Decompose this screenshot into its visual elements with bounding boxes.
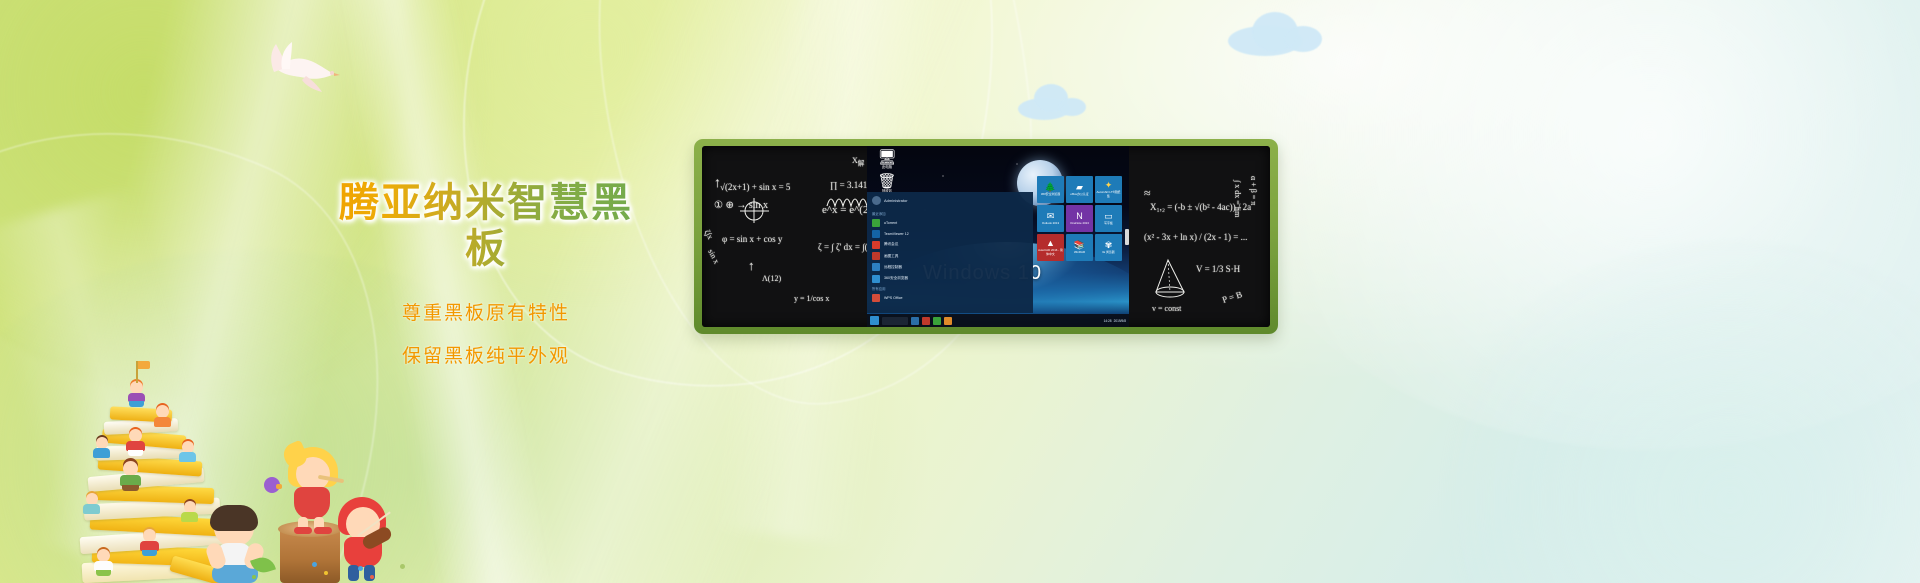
chalk-arrow-icon: ↑ — [714, 176, 721, 192]
remote-icon — [872, 263, 880, 271]
start-menu-item[interactable]: 画图工具 — [871, 251, 1029, 262]
start-tile[interactable]: 🌲360安全浏览器 — [1037, 176, 1064, 203]
tile-label: office办公认证 — [1070, 193, 1088, 196]
tile-label: 360安全浏览器 — [1041, 193, 1060, 196]
chalk-scribble: sin x — [706, 248, 721, 266]
taskbar-icon[interactable] — [922, 317, 930, 325]
taskbar-icon[interactable] — [911, 317, 919, 325]
promo-banner: 腾亚纳米智慧黑板 尊重黑板原有特性 保留黑板纯平外观 √(2x+1) + sin… — [0, 0, 1920, 583]
child-figure — [178, 441, 200, 467]
confetti-dot — [400, 564, 405, 569]
child-sitting — [206, 509, 264, 583]
system-tray[interactable]: 14:28 2019/5/8 — [1104, 319, 1126, 323]
clock[interactable]: 14:28 — [1104, 319, 1112, 323]
start-menu-item-label: 远程控制器 — [884, 265, 902, 270]
child-figure — [92, 549, 116, 577]
start-menu-item-label: WPS Office — [884, 296, 903, 300]
child-figure — [92, 437, 114, 463]
start-menu-item-label: TeamViewer 12 — [884, 232, 909, 236]
wps-icon — [872, 294, 880, 302]
tile-label: AutoCAD 2016 - 简体中文 — [1038, 249, 1063, 255]
tile-label: AutoCAD LT®图纸集 — [1096, 191, 1121, 197]
chalk-sketch-circle — [736, 196, 772, 224]
browser-icon — [872, 275, 880, 283]
tile-label: 写字板 — [1104, 222, 1113, 225]
chalk-scribble: X解 — [852, 156, 864, 168]
tile-icon: N — [1076, 212, 1083, 221]
confetti-dot — [370, 575, 374, 579]
desktop-icon-label: 此电脑 — [882, 165, 892, 169]
utorrent-icon — [872, 219, 880, 227]
start-menu-item-label: 腾讯会议 — [884, 242, 898, 247]
chalk-note: Λ(12) — [762, 274, 781, 283]
tile-icon: ▲ — [1046, 239, 1055, 248]
chalk-cone-sketch — [1154, 258, 1202, 306]
desktop-icon-computer[interactable]: 🖥 此电脑 — [872, 150, 902, 169]
chalk-note: V = 1/3 S·H — [1196, 264, 1240, 274]
start-menu-user-label: Administrator — [884, 198, 908, 203]
recycle-bin-icon: 🗑 — [872, 174, 902, 189]
child-figure — [118, 461, 144, 491]
start-tile[interactable]: 📚WinRAR — [1066, 234, 1093, 261]
start-menu-item[interactable]: 360安全浏览器 — [871, 273, 1029, 284]
start-menu-all-apps[interactable]: WPS Office — [867, 292, 1033, 303]
meeting-icon — [872, 241, 880, 249]
teamviewer-icon — [872, 230, 880, 238]
hair — [210, 505, 258, 531]
child-figure — [82, 493, 104, 519]
child-violin-player — [336, 497, 398, 583]
tile-icon: 🌲 — [1045, 183, 1056, 192]
child-flute-player — [284, 449, 342, 531]
start-menu-item[interactable]: 远程控制器 — [871, 262, 1029, 273]
taskbar-icon[interactable] — [944, 317, 952, 325]
start-menu-item[interactable]: WPS Office — [871, 292, 1029, 303]
start-menu-tiles[interactable]: 🌲360安全浏览器 ▰office办公认证 ✦AutoCAD LT®图纸集 ✉O… — [1037, 176, 1125, 261]
start-menu-item-label: 360安全浏览器 — [884, 276, 908, 281]
start-menu-item-label: uTorrent — [884, 221, 897, 225]
start-tile[interactable]: NOneNote 2013 — [1066, 205, 1093, 232]
search-input[interactable] — [882, 317, 908, 325]
chalk-note: √(2x+1) + sin x = 5 — [720, 182, 790, 192]
windows-desktop[interactable]: Windows 10 🖥 此电脑 🗑 回收站 🪟 软件管家 Admini — [867, 146, 1129, 327]
start-menu[interactable]: Administrator 最近添加 uTorrent TeamViewer 1… — [867, 192, 1033, 313]
tile-icon: ✉ — [1047, 212, 1055, 221]
child-figure — [138, 529, 162, 557]
children-illustration — [40, 353, 400, 583]
start-menu-item[interactable]: uTorrent — [871, 217, 1029, 228]
start-tile[interactable]: ✦AutoCAD LT®图纸集 — [1095, 176, 1122, 203]
tile-label: Outlook 2013 — [1042, 222, 1059, 225]
start-menu-item[interactable]: 腾讯会议 — [871, 239, 1029, 250]
confetti-dot — [312, 562, 317, 567]
nano-smart-blackboard[interactable]: √(2x+1) + sin x = 5 ↑ ∏ = 3.14159 ① ⊕ → … — [694, 139, 1278, 334]
start-tile[interactable]: ▲AutoCAD 2016 - 简体中文 — [1037, 234, 1064, 261]
confetti-dot — [324, 571, 328, 575]
page-title: 腾亚纳米智慧黑板 — [336, 180, 636, 272]
chalk-scribble: ζ∫x — [703, 228, 715, 241]
headline-block: 腾亚纳米智慧黑板 尊重黑板原有特性 保留黑板纯平外观 — [336, 180, 636, 378]
blackboard-surface[interactable]: √(2x+1) + sin x = 5 ↑ ∏ = 3.14159 ① ⊕ → … — [702, 146, 1270, 327]
start-tile[interactable]: ✉Outlook 2013 — [1037, 205, 1064, 232]
tile-icon: ✦ — [1105, 181, 1113, 190]
start-menu-section-all: 所有应用 — [867, 284, 1033, 292]
flag-icon — [138, 361, 150, 369]
child-figure — [124, 429, 148, 457]
desktop-icon-recycle-bin[interactable]: 🗑 回收站 — [872, 174, 902, 193]
start-menu-item[interactable]: TeamViewer 12 — [871, 228, 1029, 239]
start-tile[interactable]: ▭写字板 — [1095, 205, 1122, 232]
chalk-note: (x² - 3x + ln x) / (2x - 1) = ... — [1144, 232, 1247, 242]
chalk-scribble: ∫ x dx = lim — [1233, 180, 1242, 217]
paint-icon — [872, 252, 880, 260]
start-tile[interactable]: ▰office办公认证 — [1066, 176, 1093, 203]
avatar — [872, 196, 881, 205]
chalk-arrow-icon: ↑ — [748, 258, 755, 274]
chalk-note: v = const — [1152, 304, 1181, 313]
start-menu-user[interactable]: Administrator — [867, 192, 1033, 209]
chalk-scribble: ≈ — [1144, 186, 1151, 201]
dove-icon — [248, 36, 340, 96]
start-menu-section-recent: 最近添加 — [867, 209, 1033, 217]
bird-beak-icon — [276, 484, 282, 489]
start-menu-item-label: 画图工具 — [884, 254, 898, 259]
tile-icon: ▭ — [1104, 212, 1113, 221]
chalk-note: P = B — [1221, 289, 1243, 305]
tile-icon: ▰ — [1076, 183, 1083, 192]
tile-icon: 📚 — [1074, 241, 1085, 250]
tile-label: IE 浏览器 — [1102, 251, 1114, 254]
taskbar[interactable]: 14:28 2019/5/8 — [867, 314, 1129, 327]
taskbar-icon[interactable] — [933, 317, 941, 325]
start-tile[interactable]: ✾IE 浏览器 — [1095, 234, 1122, 261]
start-menu-app-list[interactable]: uTorrent TeamViewer 12 腾讯会议 画图工具 远程控制器 3… — [867, 217, 1033, 284]
child-figure — [180, 501, 202, 527]
child-figure — [126, 381, 148, 407]
chalk-note: φ = sin x + cos y — [722, 234, 782, 244]
child-figure — [152, 405, 174, 431]
screen-side-button[interactable] — [1125, 229, 1129, 245]
start-button[interactable] — [870, 316, 879, 325]
subtitle-line-1: 尊重黑板原有特性 — [336, 294, 636, 335]
confetti-dot — [252, 575, 256, 579]
tile-label: OneNote 2013 — [1070, 222, 1089, 225]
tile-icon: ✾ — [1105, 241, 1113, 250]
computer-icon: 🖥 — [872, 150, 902, 165]
chalk-scribble: y = 1/cos x — [794, 294, 829, 303]
date[interactable]: 2019/5/8 — [1114, 319, 1126, 323]
tile-label: WinRAR — [1074, 251, 1085, 254]
chalk-scribble: α + β = π — [1249, 176, 1258, 205]
confetti-dot — [358, 566, 363, 571]
